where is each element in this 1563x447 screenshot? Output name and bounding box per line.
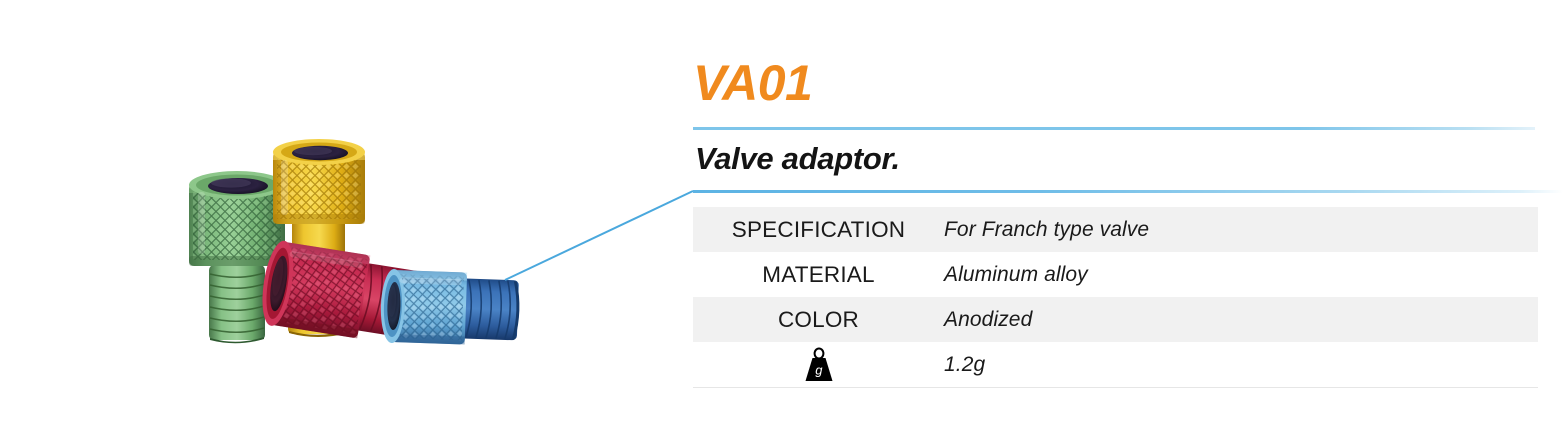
product-photo — [0, 0, 690, 447]
product-code: VA01 — [693, 58, 812, 108]
specification-table: SPECIFICATION For Franch type valve MATE… — [693, 207, 1538, 388]
blue-valve-adaptor — [380, 269, 521, 348]
specification-table-body: SPECIFICATION For Franch type valve MATE… — [693, 207, 1538, 388]
spec-label-weight: g — [693, 342, 944, 388]
product-name: Valve adaptor. — [695, 142, 900, 176]
spec-value-color: Anodized — [944, 297, 1538, 342]
product-info-panel: VA01 Valve adaptor. SPECIFICATION For Fr… — [693, 0, 1563, 447]
spec-value-weight: 1.2g — [944, 342, 1538, 388]
table-row: MATERIAL Aluminum alloy — [693, 252, 1538, 297]
spec-label-specification: SPECIFICATION — [693, 207, 944, 252]
divider-top — [693, 127, 1535, 130]
weight-icon-unit-glyph: g — [815, 362, 823, 377]
spec-value-specification: For Franch type valve — [944, 207, 1538, 252]
table-row: COLOR Anodized — [693, 297, 1538, 342]
table-row: SPECIFICATION For Franch type valve — [693, 207, 1538, 252]
table-row: g 1.2g — [693, 342, 1538, 388]
spec-label-color: COLOR — [693, 297, 944, 342]
spec-label-material: MATERIAL — [693, 252, 944, 297]
weight-icon: g — [693, 342, 944, 387]
divider-middle — [693, 190, 1563, 193]
spec-value-material: Aluminum alloy — [944, 252, 1538, 297]
